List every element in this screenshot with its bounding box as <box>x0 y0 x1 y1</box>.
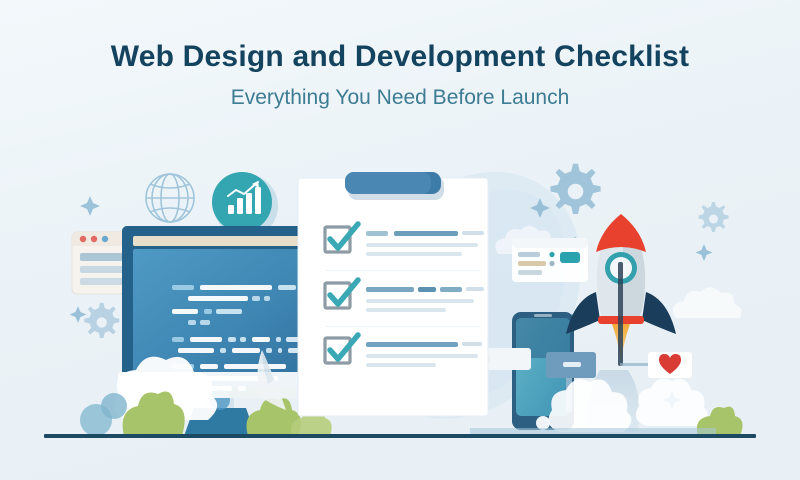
side-info-card <box>512 238 588 282</box>
gear-icon-left <box>84 303 119 338</box>
clipboard-checklist <box>298 172 488 416</box>
page-title: Web Design and Development Checklist <box>0 40 800 75</box>
gear-icon-right <box>699 202 729 232</box>
heading-block: Web Design and Development Checklist Eve… <box>0 40 800 110</box>
page-subtitle: Everything You Need Before Launch <box>0 85 800 110</box>
illustration-canvas: Web Design and Development Checklist Eve… <box>0 0 800 480</box>
gear-icon-center <box>550 164 600 214</box>
